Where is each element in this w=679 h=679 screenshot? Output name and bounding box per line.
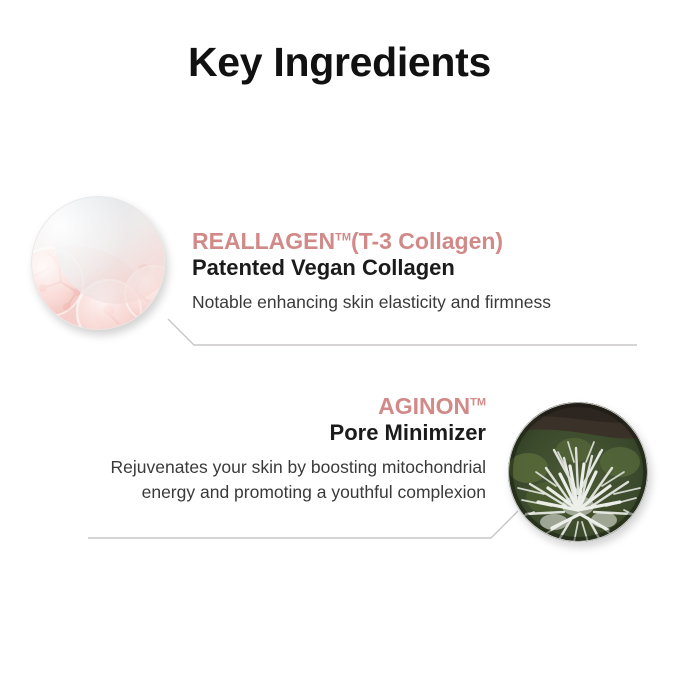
- collagen-molecule-circle-image: [31, 196, 165, 330]
- ingredient-description-aginon: Rejuvenates your skin by boosting mitoch…: [56, 455, 486, 505]
- brand-name: REALLAGEN: [192, 228, 335, 254]
- ingredient-description-reallagen: Notable enhancing skin elasticity and fi…: [192, 290, 632, 315]
- divider-reallagen: [0, 0, 679, 679]
- page-title: Key Ingredients: [0, 40, 679, 85]
- ingredient-subtitle-aginon: Pore Minimizer: [56, 420, 486, 446]
- ingredient-brand-aginon: AGINONTM: [56, 394, 486, 419]
- ingredient-block-aginon: AGINONTM Pore Minimizer Rejuvenates your…: [56, 394, 486, 504]
- divider-aginon: [0, 0, 679, 679]
- ingredients-page: Key Ingredients: [0, 0, 679, 679]
- ingredient-subtitle-reallagen: Patented Vegan Collagen: [192, 255, 632, 281]
- trademark-icon: TM: [335, 231, 351, 243]
- white-lichen-plant-circle-image: [508, 402, 648, 542]
- description-line-2: energy and promoting a youthful complexi…: [56, 480, 486, 505]
- ingredient-block-reallagen: REALLAGENTM(T-3 Collagen) Patented Vegan…: [192, 229, 632, 315]
- brand-suffix: (T-3 Collagen): [351, 228, 503, 254]
- description-line-1: Rejuvenates your skin by boosting mitoch…: [56, 455, 486, 480]
- ingredient-brand-reallagen: REALLAGENTM(T-3 Collagen): [192, 229, 632, 254]
- trademark-icon: TM: [470, 396, 486, 408]
- brand-name: AGINON: [378, 393, 470, 419]
